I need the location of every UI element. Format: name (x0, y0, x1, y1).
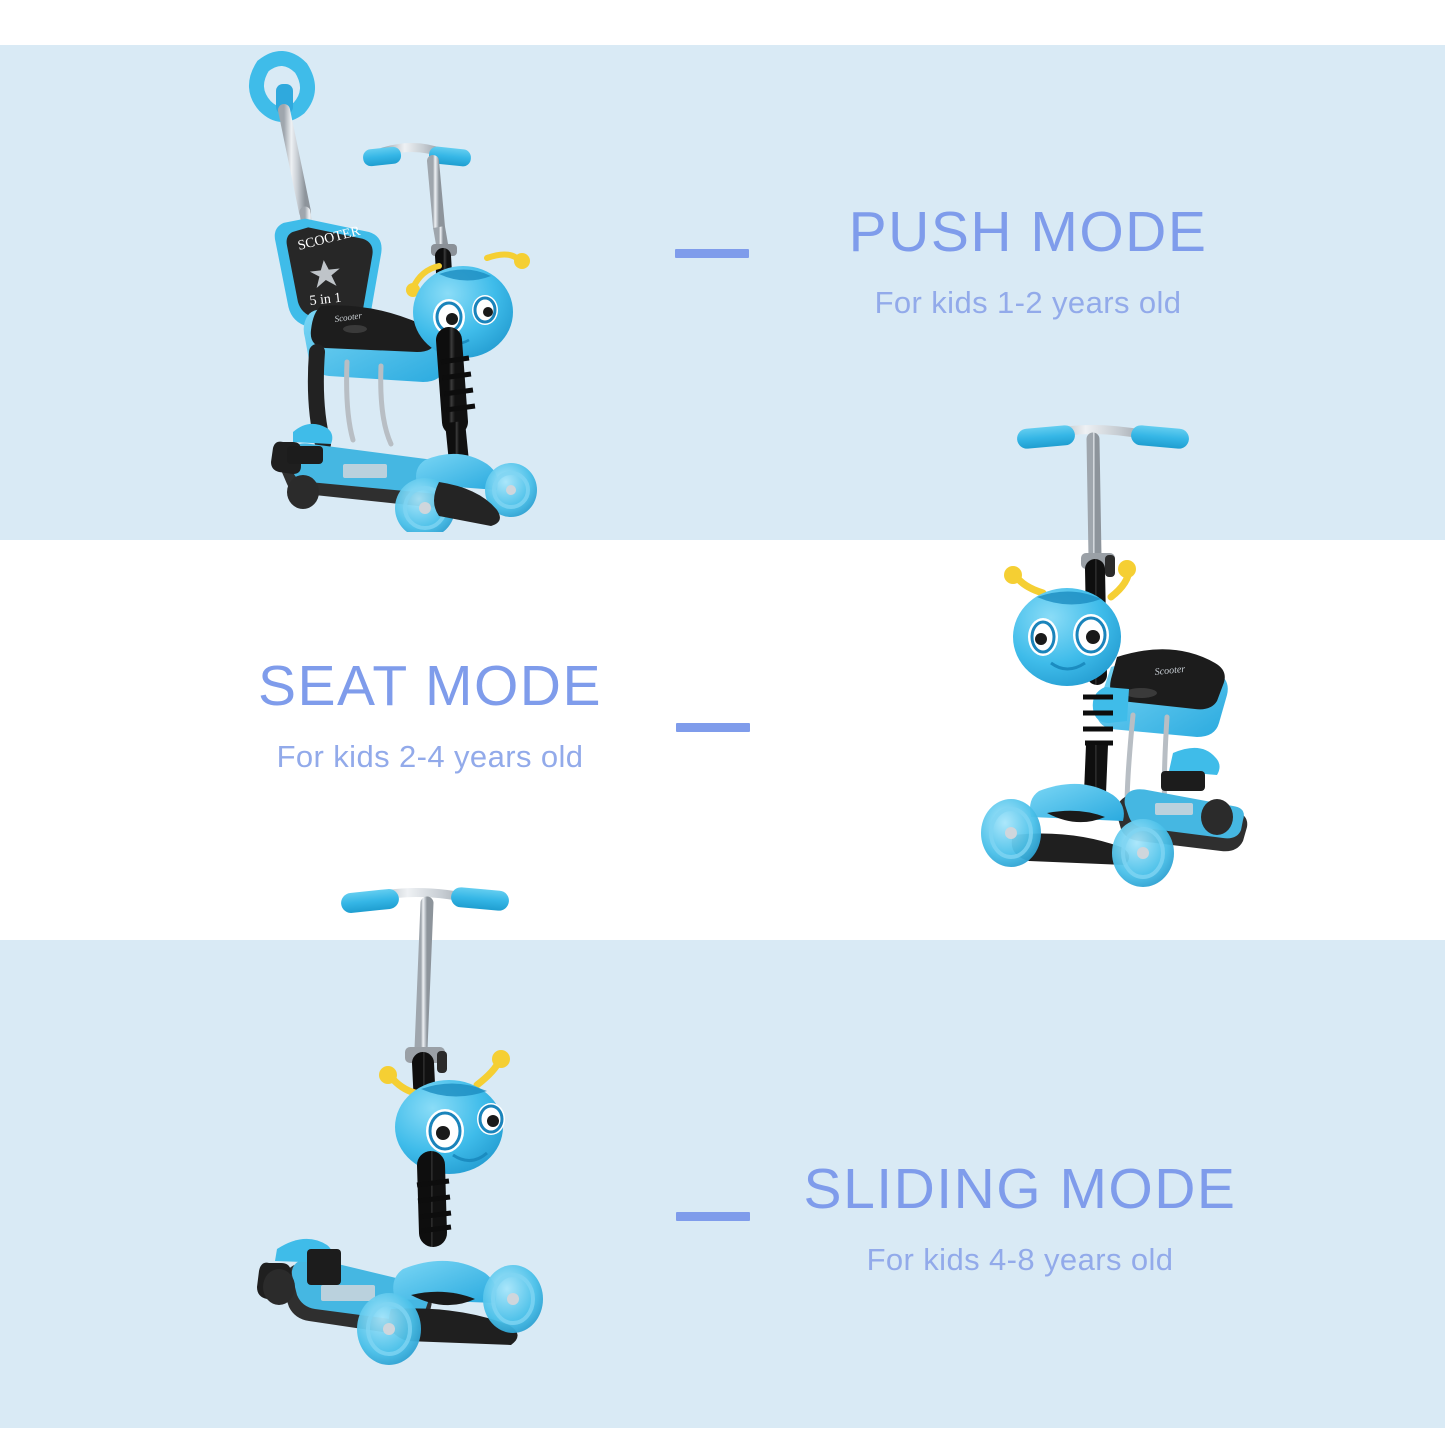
bee-head-basket (413, 266, 513, 358)
product-image-sliding-mode (255, 865, 575, 1410)
accent-dash-sliding (676, 1212, 750, 1221)
fork-column (417, 1165, 451, 1277)
product-image-push-mode: SCOOTER 5 in 1 Scooter (243, 22, 553, 532)
mode-title-sliding: SLIDING MODE (790, 1160, 1250, 1220)
rear-brake (1161, 748, 1220, 791)
mode-title-seat: SEAT MODE (215, 657, 645, 717)
accent-dash-seat (676, 723, 750, 732)
bee-head-basket (395, 1080, 505, 1174)
fork-column (441, 340, 475, 462)
mode-subtitle-sliding: For kids 4-8 years old (790, 1242, 1250, 1278)
text-block-seat: SEAT MODE For kids 2-4 years old (215, 657, 645, 775)
handlebar (340, 887, 510, 1105)
text-block-sliding: SLIDING MODE For kids 4-8 years old (790, 1160, 1250, 1278)
front-fender (393, 1261, 496, 1305)
accent-dash-push (675, 249, 749, 258)
mode-title-push: PUSH MODE (818, 203, 1238, 263)
front-fender (1030, 784, 1124, 822)
mode-subtitle-push: For kids 1-2 years old (818, 285, 1238, 321)
mode-subtitle-seat: For kids 2-4 years old (215, 739, 645, 775)
fork-column (1083, 675, 1113, 793)
product-image-seat-mode: Scooter (955, 405, 1255, 900)
infographic-page: PUSH MODE For kids 1-2 years old (0, 0, 1445, 1445)
text-block-push: PUSH MODE For kids 1-2 years old (818, 203, 1238, 321)
